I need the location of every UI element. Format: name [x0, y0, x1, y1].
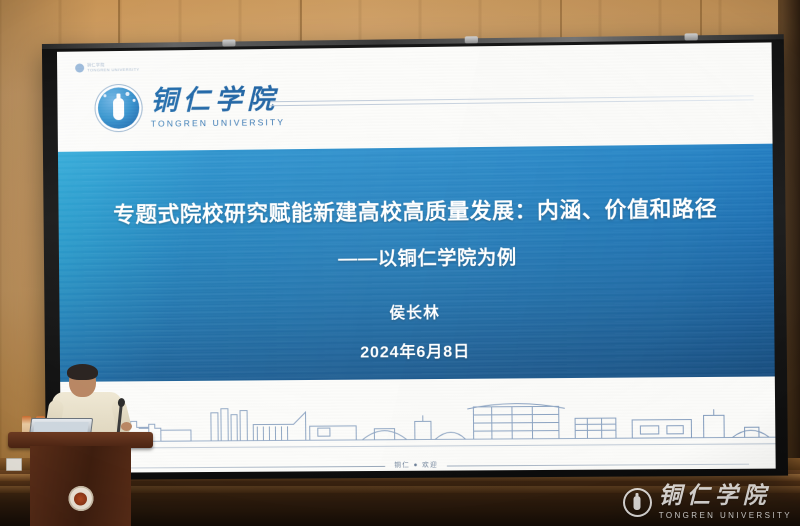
corner-watermark-en: TONGREN UNIVERSITY	[87, 66, 139, 72]
screen-clip	[685, 33, 698, 40]
slide-title: 专题式院校研究赋能新建高校高质量发展：内涵、价值和路径	[113, 192, 717, 229]
screen-clip	[222, 39, 235, 46]
overlay-watermark: 铜仁学院 TONGREN UNIVERSITY	[623, 484, 792, 520]
slide-author: 侯长林	[389, 300, 440, 323]
watermark-name-en: TONGREN UNIVERSITY	[659, 511, 792, 520]
slide-date: 2024年6月8日	[360, 337, 470, 362]
watermark-name-cn: 铜仁学院	[659, 483, 771, 508]
tongren-seal-icon	[95, 85, 142, 132]
logo-name-en: TONGREN UNIVERSITY	[151, 117, 285, 129]
slide-header: 铜仁学院 TONGREN UNIVERSITY 铜仁学院 TONGREN UNI…	[57, 42, 773, 151]
slide-footer: 铜仁 ● 欢迎	[60, 376, 776, 472]
presentation-slide: 铜仁学院 TONGREN UNIVERSITY 铜仁学院 TONGREN UNI…	[57, 42, 776, 472]
tongren-seal-icon	[75, 64, 84, 73]
wall-outlet	[6, 458, 22, 471]
university-emblem-icon	[68, 486, 93, 511]
slide-subtitle: ——以铜仁学院为例	[312, 242, 517, 271]
slide-title-band: 专题式院校研究赋能新建高校高质量发展：内涵、价值和路径 ——以铜仁学院为例 侯长…	[58, 144, 775, 382]
university-logo: 铜仁学院 TONGREN UNIVERSITY	[95, 83, 285, 131]
city-skyline-icon	[60, 393, 775, 448]
conference-photo-scene: 铜仁学院 TONGREN UNIVERSITY 铜仁学院 TONGREN UNI…	[0, 0, 800, 526]
screen-clip	[465, 36, 478, 43]
tongren-seal-icon	[623, 488, 652, 517]
header-rule	[270, 95, 753, 109]
logo-name-cn: 铜仁学院	[150, 84, 279, 116]
slide-corner-watermark: 铜仁学院 TONGREN UNIVERSITY	[75, 63, 139, 73]
wooden-podium	[8, 432, 153, 526]
footer-tag: 铜仁 ● 欢迎	[385, 458, 447, 468]
projection-screen-frame: 铜仁学院 TONGREN UNIVERSITY 铜仁学院 TONGREN UNI…	[42, 34, 788, 480]
